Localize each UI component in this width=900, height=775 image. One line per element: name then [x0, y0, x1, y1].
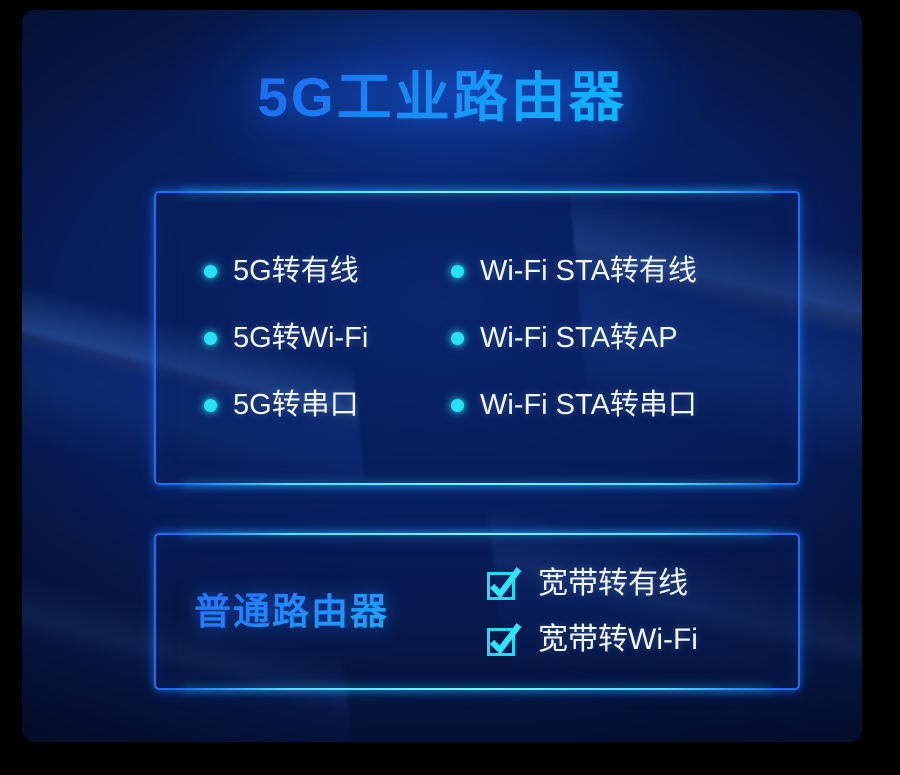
features-panel: 5G转有线 5G转Wi-Fi 5G转串口 Wi-Fi STA转有线 [154, 191, 800, 485]
list-item-label: 5G转有线 [233, 257, 359, 286]
ordinary-router-items: 宽带转有线 宽带转Wi-Fi [486, 567, 698, 657]
bullet-dot-icon [451, 332, 464, 345]
bullet-dot-icon [204, 332, 217, 345]
list-item[interactable]: 5G转有线 [204, 257, 441, 286]
list-item[interactable]: Wi-Fi STA转AP [451, 324, 798, 353]
ordinary-router-heading: 普通路由器 [156, 593, 486, 630]
ordinary-router-row: 普通路由器 宽带转有线 [156, 535, 798, 688]
bullet-dot-icon [451, 399, 464, 412]
poster-canvas: 5G工业路由器 5G转有线 5G转Wi-Fi 5G转串口 [0, 0, 900, 775]
list-item[interactable]: 5G转Wi-Fi [204, 324, 441, 353]
list-item-label: 宽带转有线 [538, 569, 688, 599]
poster-stage: 5G工业路由器 5G转有线 5G转Wi-Fi 5G转串口 [22, 10, 862, 742]
list-item[interactable]: 宽带转有线 [486, 567, 698, 601]
list-item[interactable]: 宽带转Wi-Fi [486, 623, 698, 657]
features-right-column: Wi-Fi STA转有线 Wi-Fi STA转AP Wi-Fi STA转串口 [441, 257, 798, 420]
list-item-label: Wi-Fi STA转AP [480, 324, 678, 353]
features-columns: 5G转有线 5G转Wi-Fi 5G转串口 Wi-Fi STA转有线 [156, 193, 798, 483]
ordinary-router-panel: 普通路由器 宽带转有线 [154, 533, 800, 690]
bullet-dot-icon [451, 265, 464, 278]
features-left-column: 5G转有线 5G转Wi-Fi 5G转串口 [156, 257, 441, 420]
list-item-label: 5G转串口 [233, 391, 359, 420]
list-item-label: Wi-Fi STA转有线 [480, 257, 697, 286]
list-item[interactable]: Wi-Fi STA转有线 [451, 257, 798, 286]
list-item[interactable]: 5G转串口 [204, 391, 441, 420]
bullet-dot-icon [204, 399, 217, 412]
checked-checkbox-icon[interactable] [486, 567, 520, 601]
bullet-dot-icon [204, 265, 217, 278]
page-title: 5G工业路由器 [22, 70, 862, 125]
list-item[interactable]: Wi-Fi STA转串口 [451, 391, 798, 420]
list-item-label: 5G转Wi-Fi [233, 324, 368, 353]
checked-checkbox-icon[interactable] [486, 623, 520, 657]
list-item-label: Wi-Fi STA转串口 [480, 391, 697, 420]
list-item-label: 宽带转Wi-Fi [538, 625, 698, 655]
